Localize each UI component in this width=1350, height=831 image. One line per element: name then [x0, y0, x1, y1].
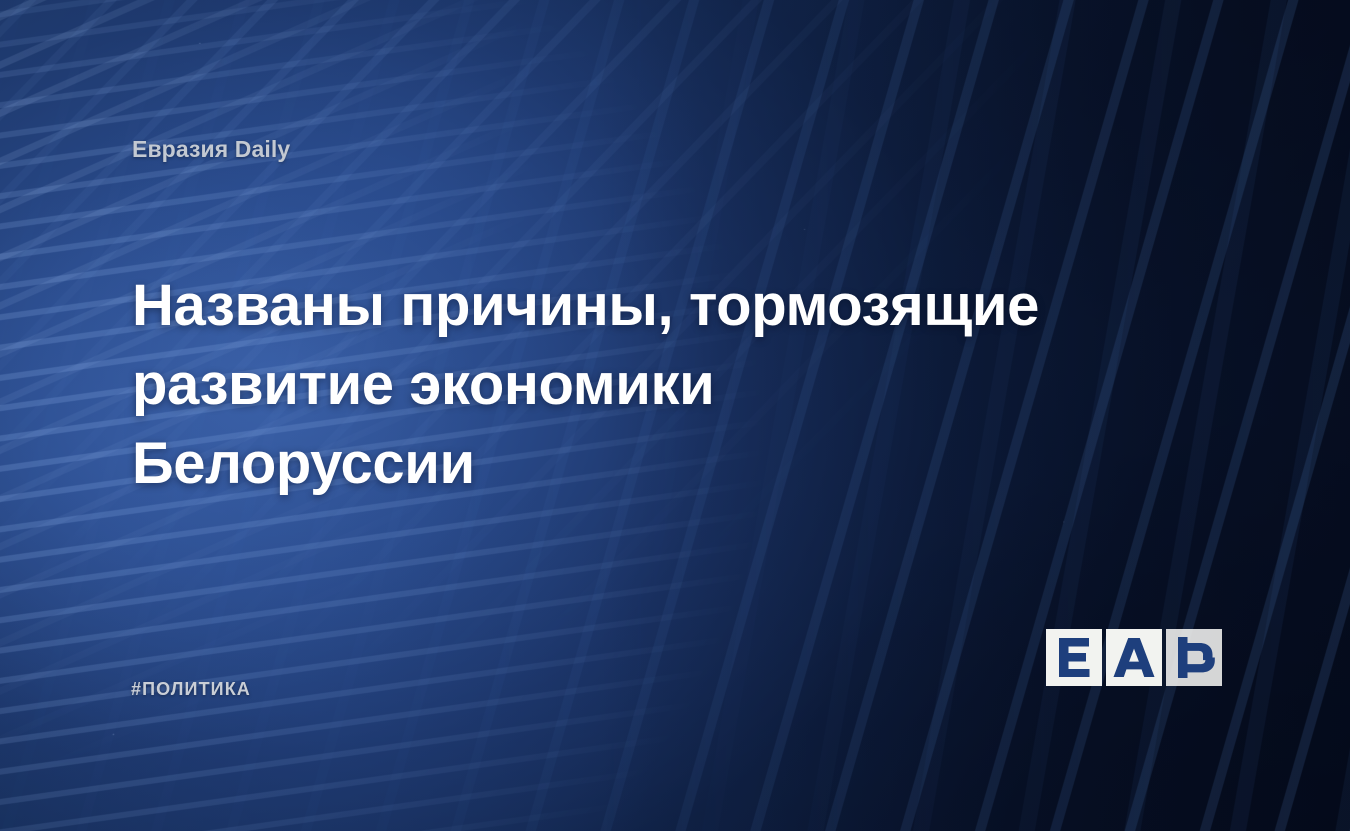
- news-share-card: Евразия Daily Названы причины, тормозящи…: [0, 0, 1350, 831]
- logo-letter-e-icon: [1046, 629, 1102, 686]
- logo-letter-d-icon: [1166, 629, 1222, 686]
- eadaily-logo[interactable]: [1046, 629, 1222, 686]
- logo-letter-a-icon: [1106, 629, 1162, 686]
- publication-name: Евразия Daily: [132, 136, 290, 163]
- card-content: Евразия Daily Названы причины, тормозящи…: [0, 0, 1350, 831]
- category-hashtag[interactable]: #ПОЛИТИКА: [131, 679, 251, 700]
- headline-title: Названы причины, тормозящие развитие эко…: [132, 266, 1052, 503]
